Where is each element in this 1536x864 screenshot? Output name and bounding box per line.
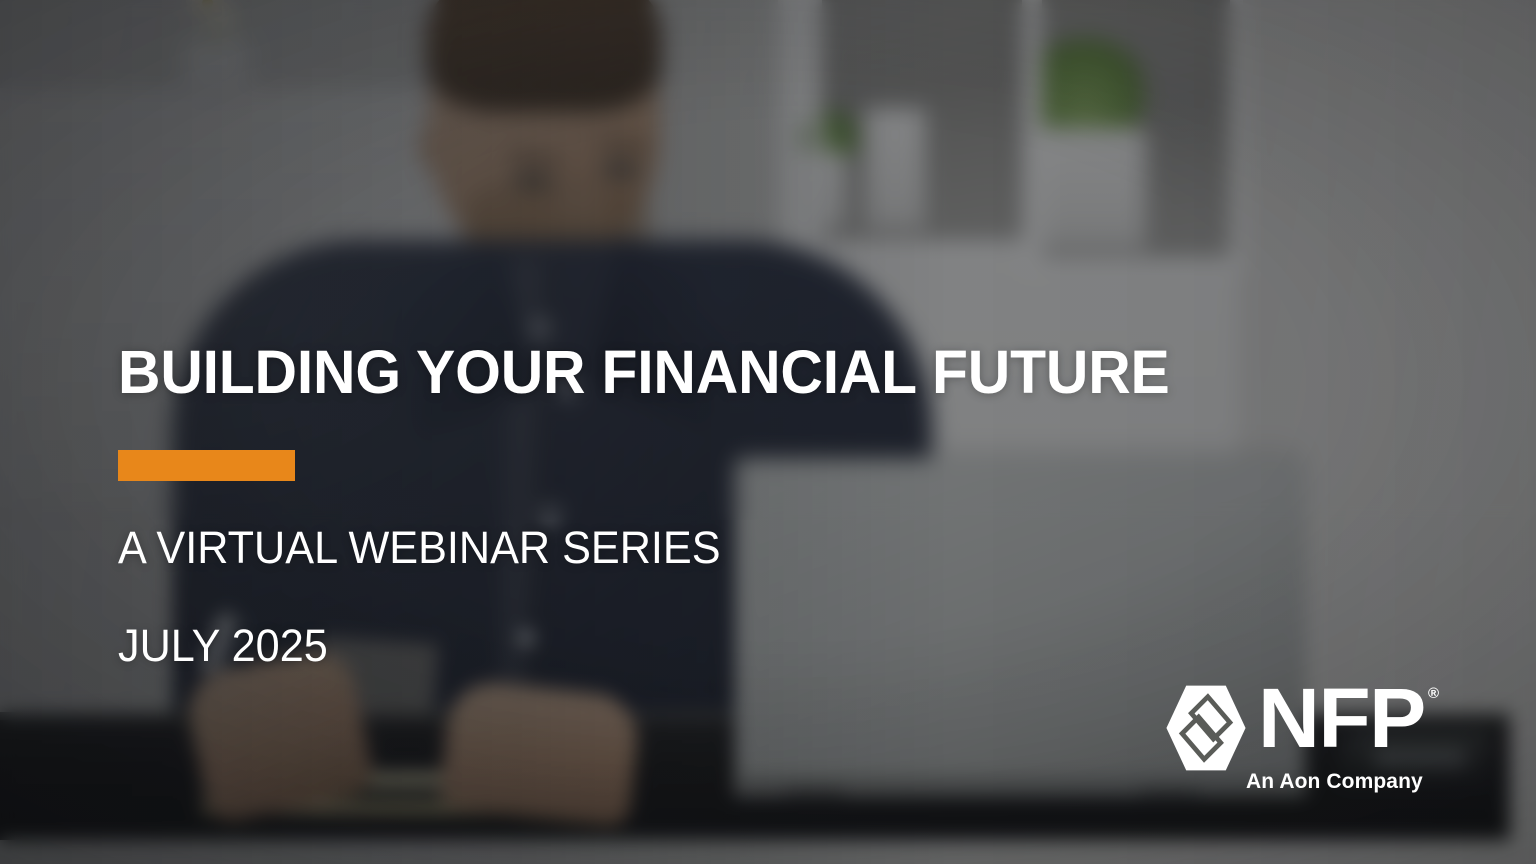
slide-date: JULY 2025 [118,622,328,669]
nfp-hexagon-icon [1160,682,1252,774]
page-title: BUILDING YOUR FINANCIAL FUTURE [118,340,1170,404]
orange-accent-bar [118,450,295,481]
nfp-tagline: An Aon Company [1246,770,1423,794]
webinar-title-slide: BUILDING YOUR FINANCIAL FUTURE A VIRTUAL… [0,0,1536,864]
nfp-wordmark: NFP [1258,676,1425,760]
nfp-logo: NFP ® An Aon Company [1160,676,1450,798]
slide-subtitle: A VIRTUAL WEBINAR SERIES [118,524,721,571]
registered-trademark-icon: ® [1428,686,1439,701]
